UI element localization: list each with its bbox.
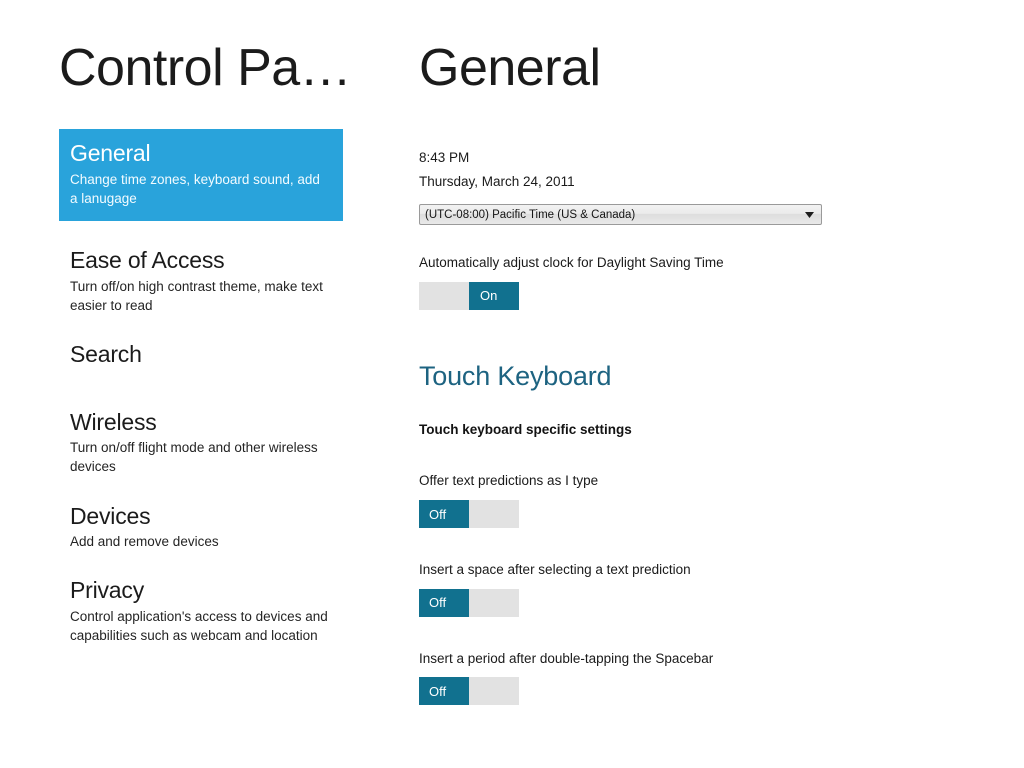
daylight-saving-label: Automatically adjust clock for Daylight … <box>419 253 979 273</box>
sidebar-item-privacy-description: Control application's access to devices … <box>70 607 342 645</box>
daylight-saving-toggle-state: On <box>469 282 519 310</box>
app-title: Control Pa… <box>59 40 359 97</box>
setting-insert-space-toggle-state: Off <box>419 589 469 617</box>
sidebar-item-ease-of-access-label: Ease of Access <box>70 247 343 275</box>
sidebar-item-general[interactable]: General Change time zones, keyboard soun… <box>59 129 343 221</box>
setting-insert-space: Insert a space after selecting a text pr… <box>419 560 979 617</box>
sidebar-item-wireless-description: Turn on/off flight mode and other wirele… <box>70 438 342 476</box>
setting-insert-period-label: Insert a period after double-tapping the… <box>419 649 979 669</box>
chevron-down-icon <box>801 212 821 218</box>
sidebar-item-devices-description: Add and remove devices <box>70 532 342 551</box>
setting-insert-space-toggle[interactable]: Off <box>419 589 519 617</box>
daylight-saving-setting: Automatically adjust clock for Daylight … <box>419 253 979 310</box>
sidebar-item-wireless[interactable]: Wireless Turn on/off flight mode and oth… <box>59 409 343 477</box>
timezone-select-value: (UTC-08:00) Pacific Time (US & Canada) <box>420 209 801 221</box>
timezone-select[interactable]: (UTC-08:00) Pacific Time (US & Canada) <box>419 204 822 225</box>
sidebar-nav-list: General Change time zones, keyboard soun… <box>59 129 359 645</box>
touch-keyboard-section: Touch Keyboard Touch keyboard specific s… <box>419 361 979 705</box>
setting-insert-space-label: Insert a space after selecting a text pr… <box>419 560 979 580</box>
current-date: Thursday, March 24, 2011 <box>419 172 979 192</box>
daylight-saving-toggle-track <box>419 282 469 310</box>
sidebar-item-general-description: Change time zones, keyboard sound, add a… <box>70 170 331 208</box>
setting-insert-space-toggle-track <box>469 589 519 617</box>
current-time: 8:43 PM <box>419 148 979 168</box>
setting-insert-period-toggle[interactable]: Off <box>419 677 519 705</box>
setting-offer-text-predictions-label: Offer text predictions as I type <box>419 471 979 491</box>
setting-insert-period: Insert a period after double-tapping the… <box>419 649 979 706</box>
sidebar-item-ease-of-access-description: Turn off/on high contrast theme, make te… <box>70 277 342 315</box>
setting-offer-text-predictions: Offer text predictions as I type Off <box>419 471 979 528</box>
sidebar-item-privacy-label: Privacy <box>70 577 343 605</box>
sidebar-item-ease-of-access[interactable]: Ease of Access Turn off/on high contrast… <box>59 247 343 315</box>
sidebar-item-general-label: General <box>70 140 331 168</box>
setting-offer-text-predictions-toggle-state: Off <box>419 500 469 528</box>
page-title: General <box>419 40 979 97</box>
setting-offer-text-predictions-toggle-track <box>469 500 519 528</box>
sidebar-item-search[interactable]: Search <box>59 341 343 369</box>
sidebar-item-wireless-label: Wireless <box>70 409 343 437</box>
setting-offer-text-predictions-toggle[interactable]: Off <box>419 500 519 528</box>
sidebar-item-devices[interactable]: Devices Add and remove devices <box>59 503 343 552</box>
touch-keyboard-heading: Touch Keyboard <box>419 361 979 392</box>
touch-keyboard-subheading: Touch keyboard specific settings <box>419 420 979 440</box>
sidebar-item-devices-label: Devices <box>70 503 343 531</box>
setting-insert-period-toggle-state: Off <box>419 677 469 705</box>
sidebar-item-privacy[interactable]: Privacy Control application's access to … <box>59 577 343 645</box>
sidebar: Control Pa… General Change time zones, k… <box>59 40 359 671</box>
clock-block: 8:43 PM Thursday, March 24, 2011 <box>419 148 979 191</box>
sidebar-item-search-label: Search <box>70 341 343 369</box>
content-pane: General 8:43 PM Thursday, March 24, 2011… <box>419 40 979 705</box>
daylight-saving-toggle[interactable]: On <box>419 282 519 310</box>
setting-insert-period-toggle-track <box>469 677 519 705</box>
